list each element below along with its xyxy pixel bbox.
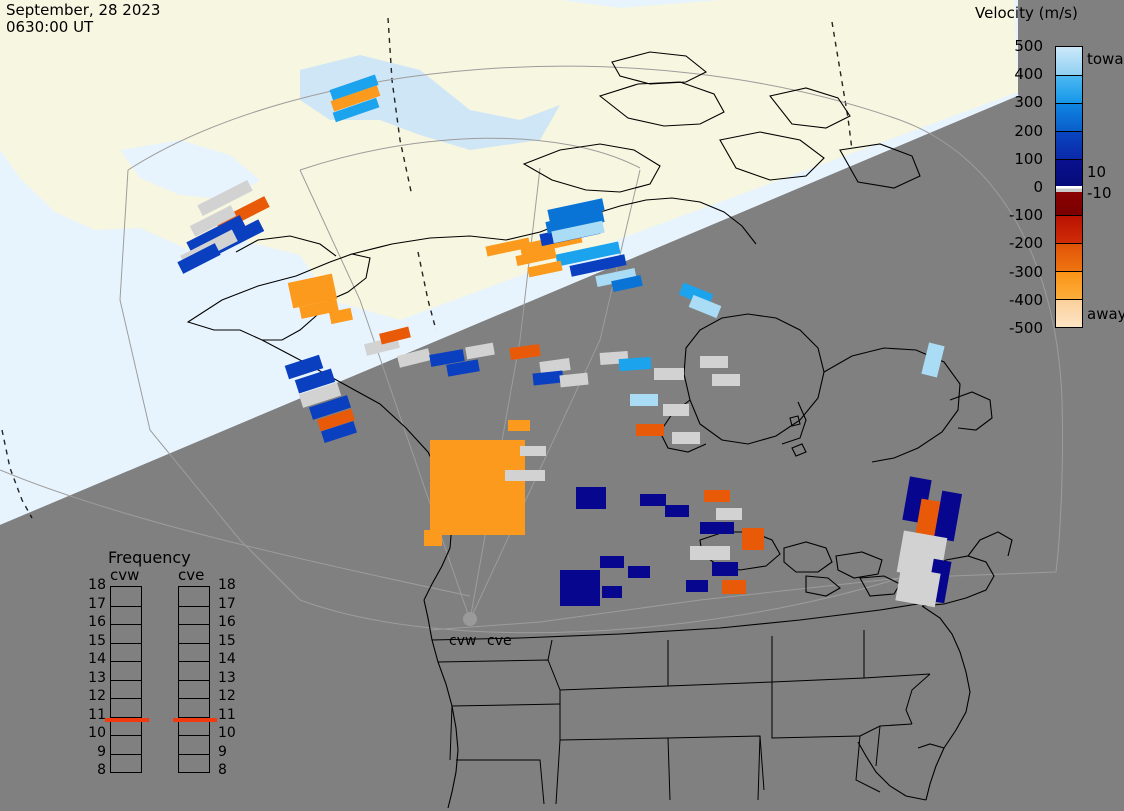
velocity-band-divider [1056,131,1082,132]
frequency-bar-cvw [110,586,142,773]
velocity-band-divider [1056,271,1082,272]
site-label-cvw: cvw [449,633,476,649]
frequency-scale-label-left-8: 8 [86,762,106,778]
velocity-lower-threshold-label: -10 [1087,184,1112,202]
frequency-marker-cvw [105,718,149,722]
timestamp-time: 0630:00 UT [6,19,93,36]
velocity-band-9 [1056,299,1082,327]
frequency-grid-line [111,680,141,681]
frequency-bar-cve [178,586,210,773]
velocity-band-divider [1056,103,1082,104]
velocity-band-divider [1056,215,1082,216]
frequency-scale-label-left-18: 18 [86,577,106,593]
frequency-scale-label-right-9: 9 [218,744,227,760]
frequency-scale-label-right-11: 11 [218,707,236,723]
velocity-band-7 [1056,243,1082,271]
velocity-tick--500: -500 [965,319,1043,337]
frequency-grid-line [179,606,209,607]
frequency-grid-line [179,624,209,625]
frequency-scale-label-left-12: 12 [86,688,106,704]
frequency-scale-label-left-11: 11 [86,707,106,723]
frequency-grid-line [179,698,209,699]
frequency-grid-line [179,680,209,681]
velocity-tick-500: 500 [965,37,1043,55]
velocity-band-6 [1056,215,1082,243]
velocity-toward-label: toward [1087,50,1124,68]
frequency-scale-label-right-10: 10 [218,725,236,741]
frequency-grid-line [111,606,141,607]
frequency-grid-line [111,735,141,736]
velocity-tick-200: 200 [965,122,1043,140]
velocity-tick--300: -300 [965,263,1043,281]
velocity-colorbar-gradient [1055,46,1083,328]
velocity-tick--400: -400 [965,291,1043,309]
velocity-tick-100: 100 [965,150,1043,168]
frequency-grid-line [111,661,141,662]
velocity-band-divider [1056,159,1082,160]
velocity-band-3 [1056,131,1082,159]
velocity-colorbar-title: Velocity (m/s) [975,4,1078,22]
frequency-bar-label-cve: cve [178,566,204,584]
radar-map-figure: cvw cve September, 28 2023 0630:00 UT Ve… [0,0,1124,811]
velocity-colorbar: Velocity (m/s) 5004003002001000-100-200-… [965,4,1124,334]
frequency-scale-label-right-8: 8 [218,762,227,778]
frequency-scale-label-right-14: 14 [218,651,236,667]
frequency-scale-label-left-14: 14 [86,651,106,667]
frequency-grid-line [111,624,141,625]
velocity-tick-400: 400 [965,65,1043,83]
frequency-grid-line [111,754,141,755]
velocity-band-divider [1056,299,1082,300]
frequency-scale-label-left-10: 10 [86,725,106,741]
frequency-grid-line [111,698,141,699]
velocity-tick--200: -200 [965,234,1043,252]
frequency-marker-cve [173,718,217,722]
frequency-scale-label-right-17: 17 [218,596,236,612]
velocity-band-4 [1056,159,1082,187]
velocity-band-divider [1056,75,1082,76]
velocity-tick-300: 300 [965,93,1043,111]
frequency-scale-label-left-9: 9 [86,744,106,760]
site-label-cve: cve [487,633,512,649]
frequency-scale-label-left-13: 13 [86,670,106,686]
frequency-legend: Frequency cvw cve 18171615141312111098 1… [86,548,276,788]
velocity-band-divider [1056,243,1082,244]
velocity-band-8 [1056,271,1082,299]
frequency-bar-label-cvw: cvw [110,566,139,584]
frequency-grid-line [179,735,209,736]
velocity-band-1 [1056,75,1082,103]
velocity-band-0 [1056,47,1082,75]
velocity-tick--100: -100 [965,206,1043,224]
frequency-scale-label-right-18: 18 [218,577,236,593]
frequency-grid-line [179,754,209,755]
velocity-away-label: away [1087,305,1124,323]
frequency-scale-label-left-17: 17 [86,596,106,612]
frequency-legend-title: Frequency [108,548,191,567]
frequency-grid-line [179,643,209,644]
frequency-scale-label-right-15: 15 [218,633,236,649]
frequency-scale-label-right-13: 13 [218,670,236,686]
velocity-band-2 [1056,103,1082,131]
frequency-scale-label-right-12: 12 [218,688,236,704]
velocity-upper-threshold-label: 10 [1087,163,1106,181]
frequency-scale-label-left-16: 16 [86,614,106,630]
frequency-scale-label-left-15: 15 [86,633,106,649]
frequency-grid-line [179,661,209,662]
frequency-scale-label-right-16: 16 [218,614,236,630]
velocity-zero-band [1056,186,1082,192]
timestamp-date: September, 28 2023 [6,2,160,19]
velocity-tick-0: 0 [965,178,1043,196]
frequency-grid-line [111,643,141,644]
